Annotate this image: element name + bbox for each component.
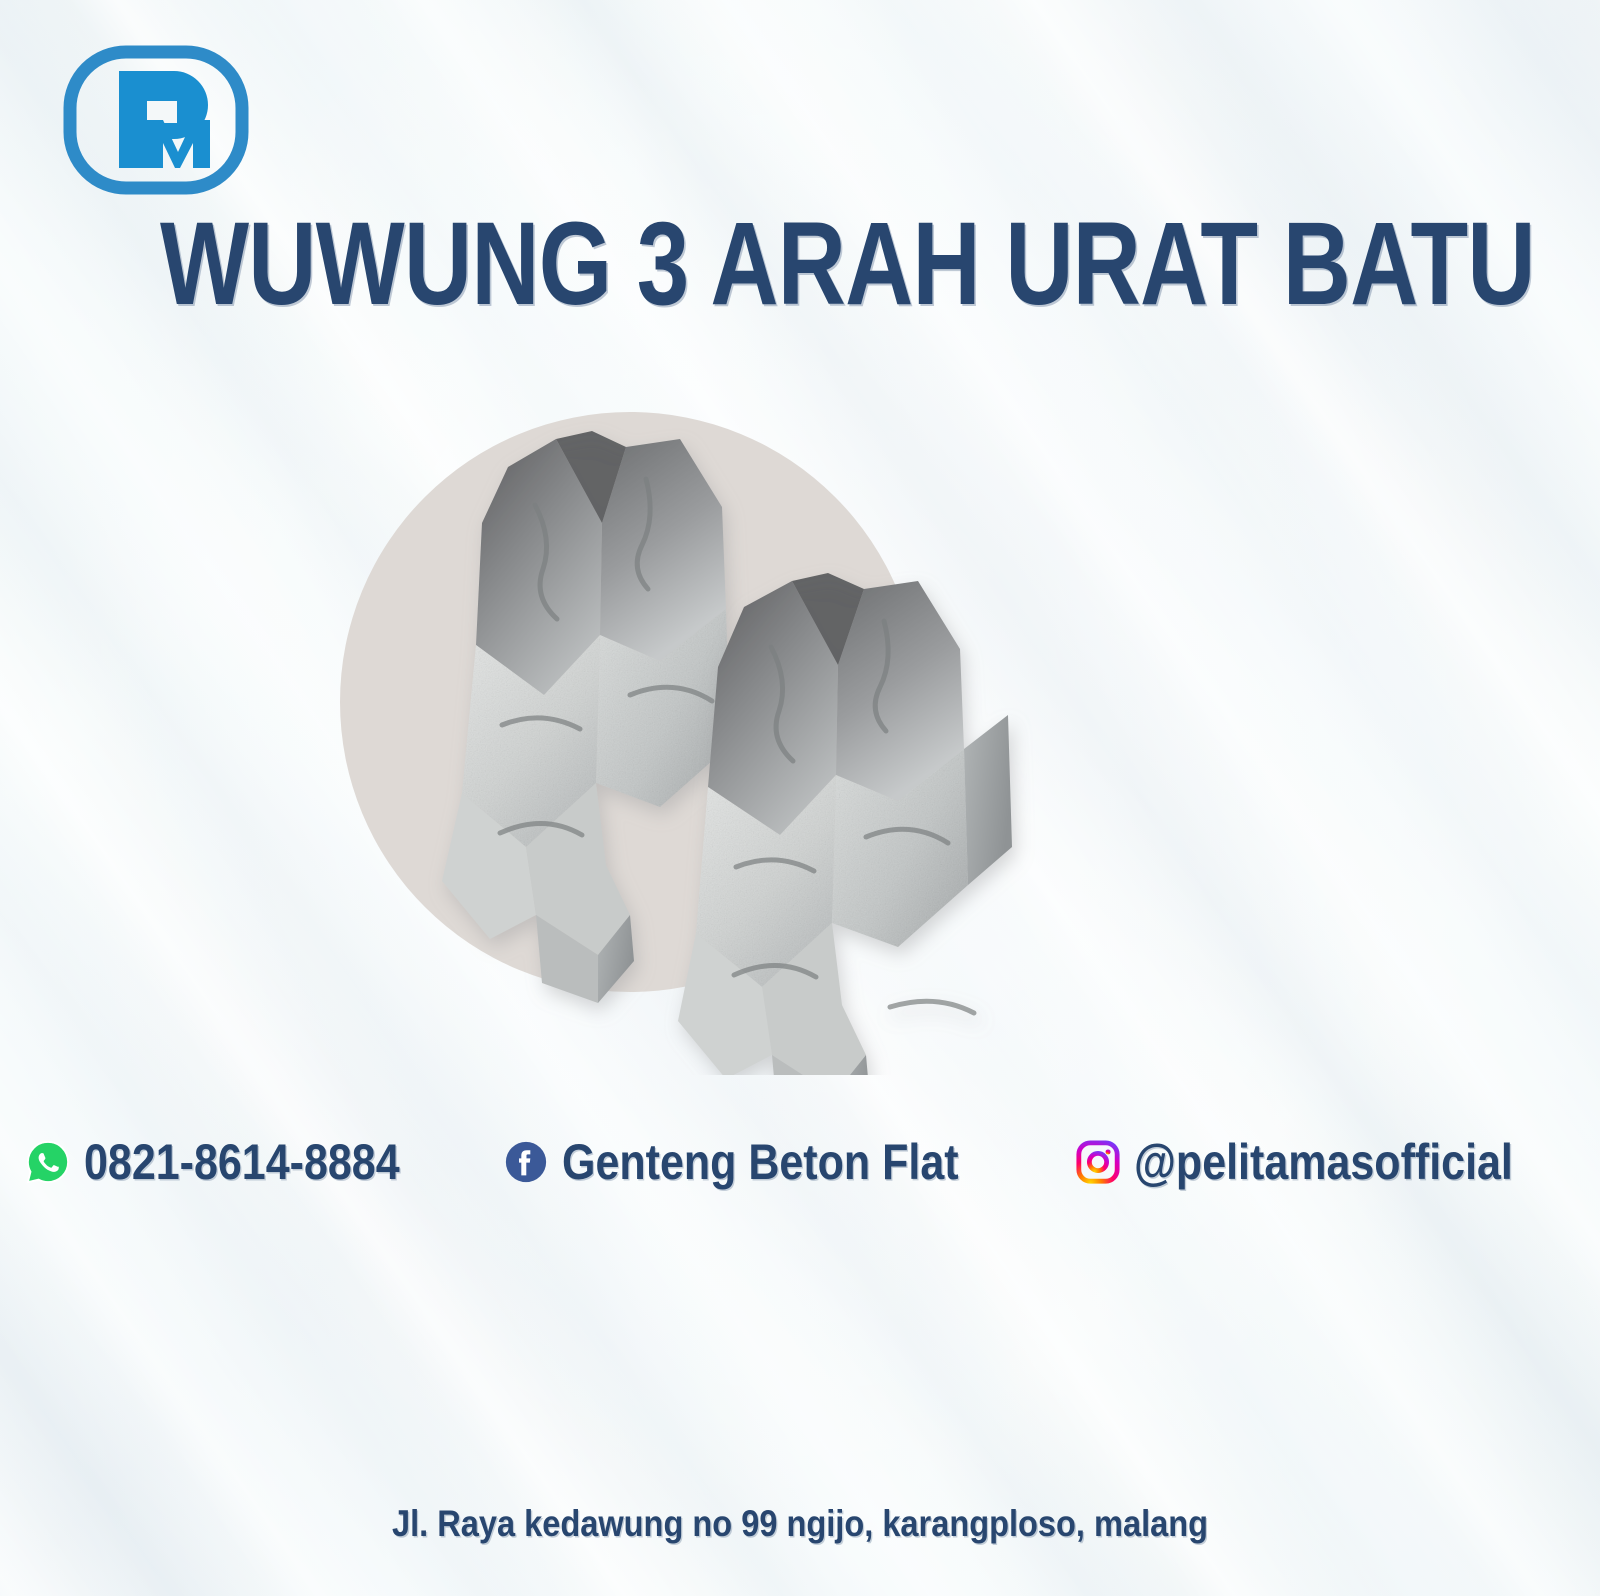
contact-facebook[interactable]: Genteng Beton Flat [503, 1137, 1023, 1187]
contact-row: 0821-8614-8884 Genteng Beton Flat [0, 1124, 1600, 1200]
page-title: WUWUNG 3 ARAH URAT BATU [160, 204, 1440, 324]
whatsapp-number: 0821-8614-8884 [84, 1137, 400, 1187]
contact-whatsapp[interactable]: 0821-8614-8884 [25, 1137, 451, 1187]
pm-monogram-logo [62, 44, 250, 196]
promo-poster: WUWUNG 3 ARAH URAT BATU [0, 0, 1600, 1596]
product-image-stage [330, 395, 1110, 1075]
facebook-page-name: Genteng Beton Flat [562, 1137, 959, 1187]
instagram-handle: @pelitamasofficial [1134, 1137, 1513, 1187]
address-line: Jl. Raya kedawung no 99 ngijo, karangplo… [96, 1505, 1504, 1542]
whatsapp-icon[interactable] [25, 1139, 71, 1185]
product-photo-concrete-ridge-caps [330, 395, 1110, 1075]
contact-instagram[interactable]: @pelitamasofficial [1075, 1137, 1575, 1187]
instagram-icon[interactable] [1075, 1139, 1121, 1185]
facebook-icon[interactable] [503, 1139, 549, 1185]
